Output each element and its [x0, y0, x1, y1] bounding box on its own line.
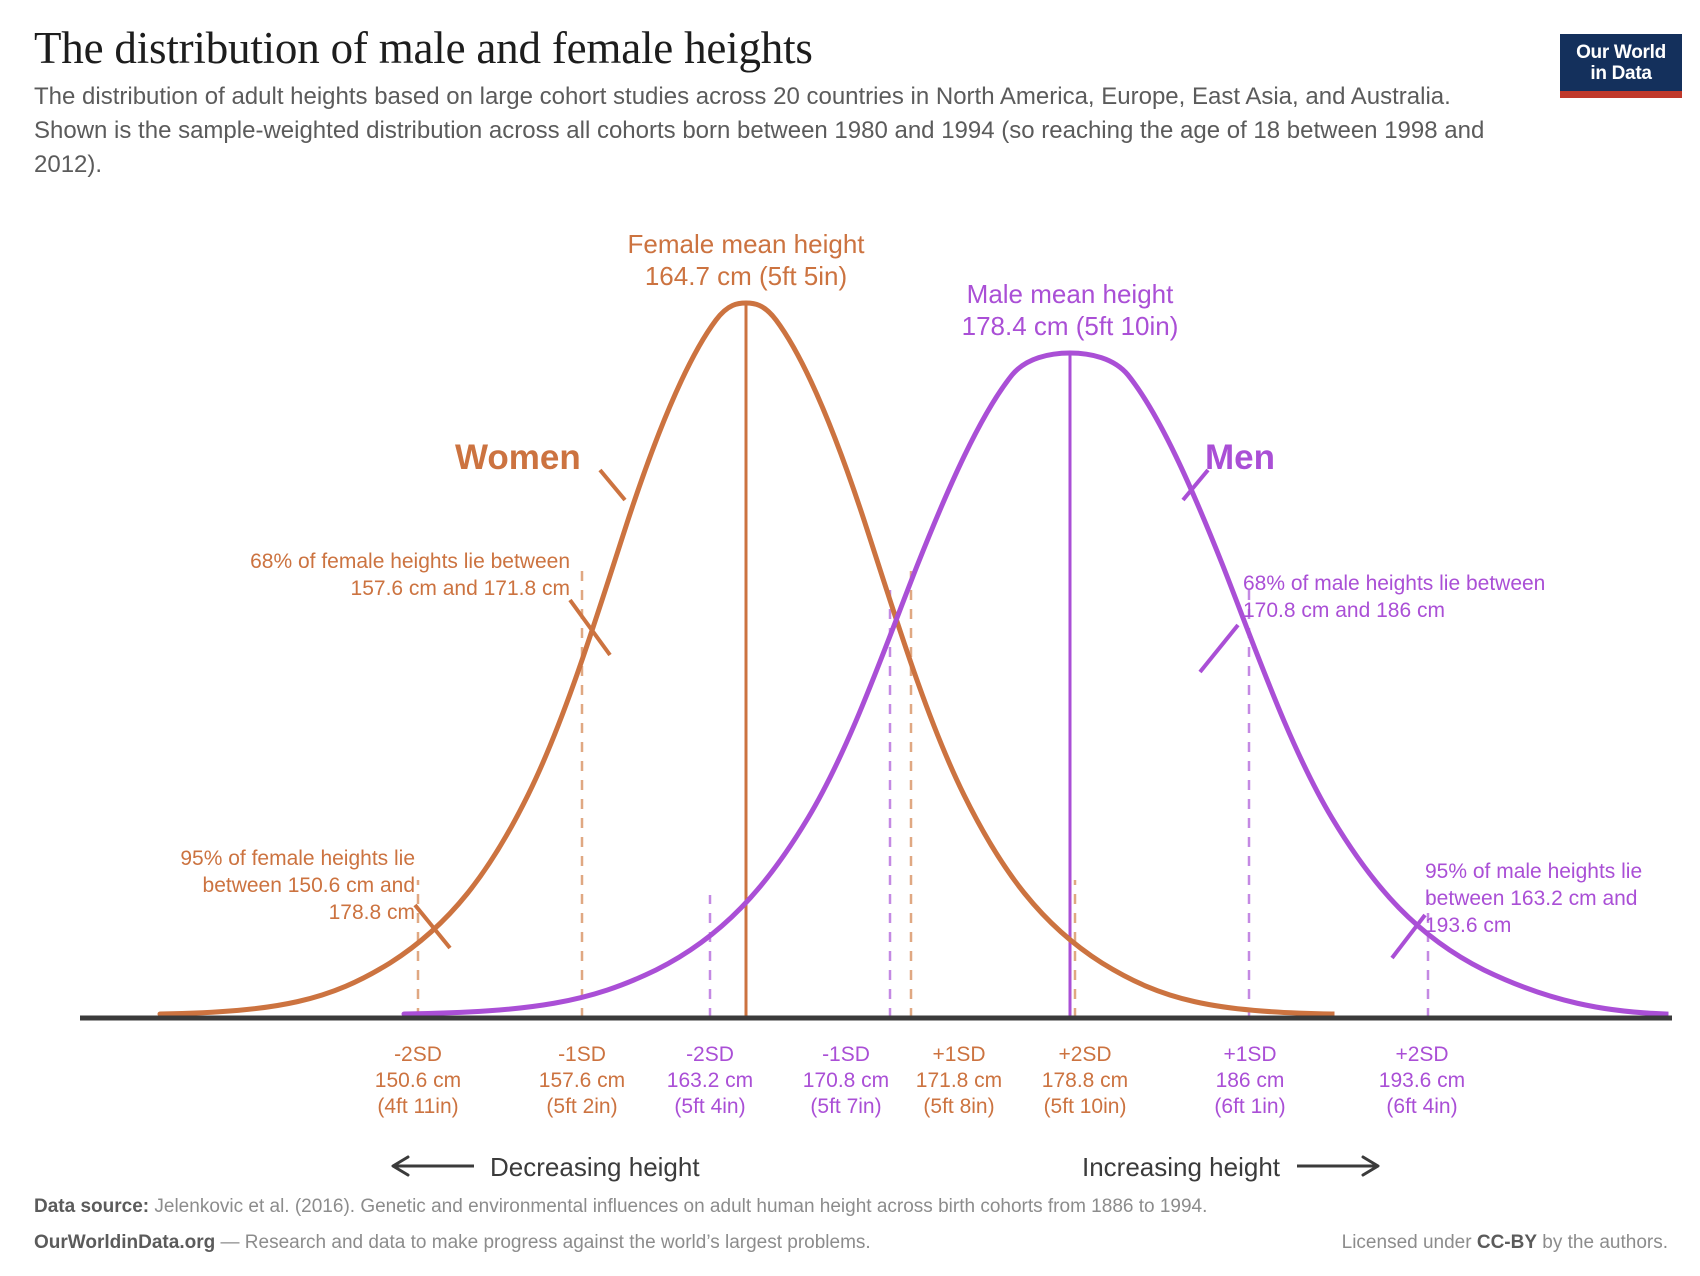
male-95-leader: [1392, 915, 1425, 958]
female-68-leader: [570, 600, 610, 655]
female-95-annotation: 95% of female heights lie between 150.6 …: [110, 845, 415, 926]
tick-female-minus2sd: -2SD 150.6 cm (4ft 11in): [338, 1042, 498, 1120]
owid-site-link[interactable]: OurWorldinData.org: [34, 1232, 215, 1253]
tick-ft-label: (6ft 4in): [1342, 1094, 1502, 1120]
tick-sd-label: +2SD: [1005, 1042, 1165, 1068]
tick-cm-label: 193.6 cm: [1342, 1068, 1502, 1094]
tick-sd-label: -2SD: [338, 1042, 498, 1068]
tick-cm-label: 150.6 cm: [338, 1068, 498, 1094]
men-series-label: Men: [1205, 438, 1275, 478]
tick-ft-label: (5ft 10in): [1005, 1094, 1165, 1120]
data-source-text: Jelenkovic et al. (2016). Genetic and en…: [154, 1196, 1207, 1217]
female-68-annotation: 68% of female heights lie between 157.6 …: [150, 548, 570, 602]
license-cc-by-link[interactable]: CC-BY: [1477, 1232, 1537, 1253]
male-95-annotation: 95% of male heights lie between 163.2 cm…: [1425, 858, 1685, 939]
decreasing-height-label: Decreasing height: [490, 1152, 700, 1183]
tick-male-plus2sd: +2SD 193.6 cm (6ft 4in): [1342, 1042, 1502, 1120]
increasing-arrow-icon: [1297, 1157, 1378, 1175]
increasing-height-label: Increasing height: [1082, 1152, 1280, 1183]
tick-sd-label: +1SD: [1170, 1042, 1330, 1068]
female-mean-annotation: Female mean height 164.7 cm (5ft 5in): [566, 228, 926, 292]
distribution-chart: Female mean height 164.7 cm (5ft 5in) Ma…: [0, 0, 1700, 1276]
tick-cm-label: 186 cm: [1170, 1068, 1330, 1094]
owid-tagline: — Research and data to make progress aga…: [221, 1232, 871, 1253]
data-source-line: Data source: Jelenkovic et al. (2016). G…: [34, 1196, 1668, 1218]
male-68-leader: [1200, 625, 1238, 672]
male-mean-annotation: Male mean height 178.4 cm (5ft 10in): [890, 278, 1250, 342]
women-series-label: Women: [455, 438, 581, 478]
decreasing-arrow-icon: [393, 1157, 474, 1175]
footer-license: Licensed under CC-BY by the authors.: [1342, 1232, 1668, 1254]
women-label-leader: [600, 470, 625, 500]
data-source-label: Data source:: [34, 1196, 149, 1217]
tick-sd-label: +2SD: [1342, 1042, 1502, 1068]
tick-cm-label: 178.8 cm: [1005, 1068, 1165, 1094]
license-suffix: by the authors.: [1537, 1232, 1668, 1253]
tick-ft-label: (4ft 11in): [338, 1094, 498, 1120]
footer-left: OurWorldinData.org — Research and data t…: [34, 1232, 871, 1254]
tick-male-plus1sd: +1SD 186 cm (6ft 1in): [1170, 1042, 1330, 1120]
tick-ft-label: (6ft 1in): [1170, 1094, 1330, 1120]
footer-bottom-row: OurWorldinData.org — Research and data t…: [34, 1232, 1668, 1254]
license-prefix: Licensed under: [1342, 1232, 1477, 1253]
tick-female-plus2sd: +2SD 178.8 cm (5ft 10in): [1005, 1042, 1165, 1120]
male-68-annotation: 68% of male heights lie between 170.8 cm…: [1243, 570, 1663, 624]
chart-footer: Data source: Jelenkovic et al. (2016). G…: [34, 1196, 1668, 1254]
